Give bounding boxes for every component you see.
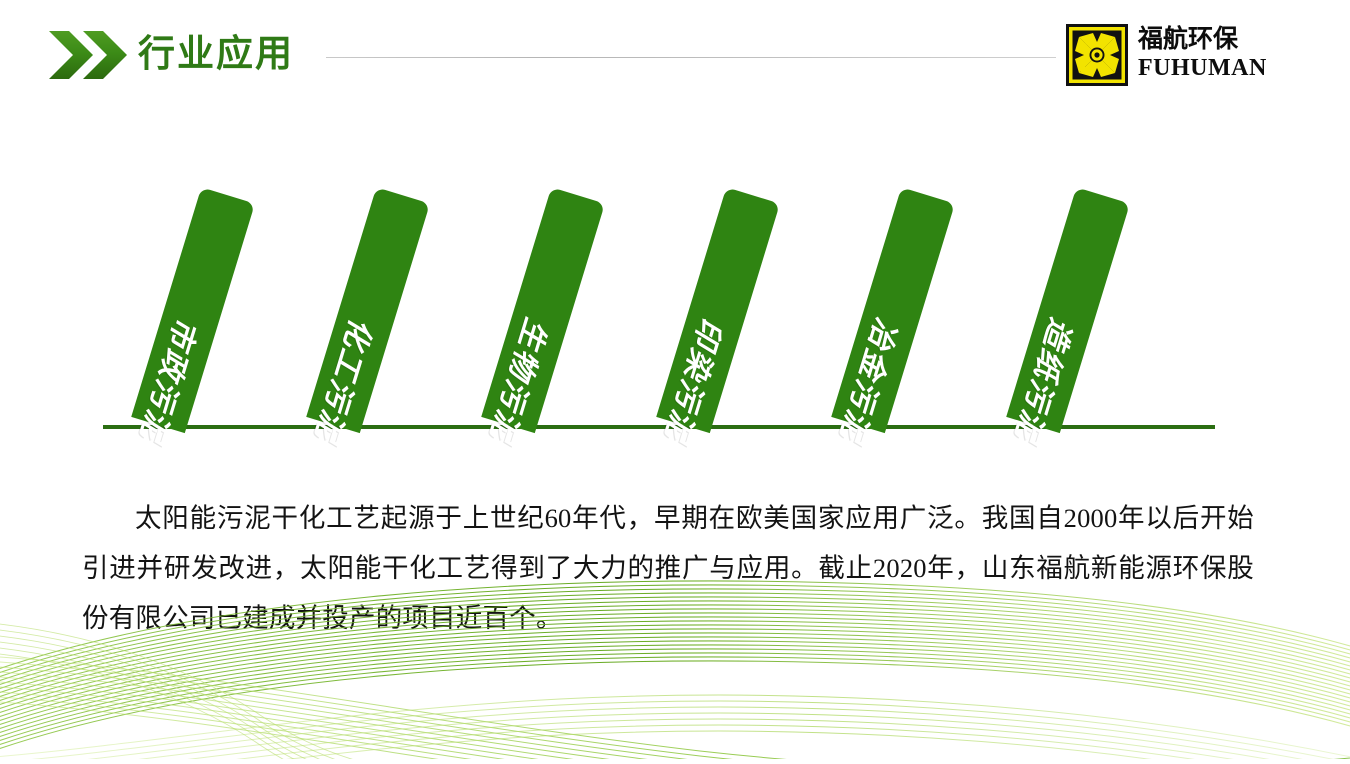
bar-item-2: 生物污泥 xyxy=(481,187,605,433)
slide-header: 行业应用 xyxy=(0,0,1350,110)
bar-item-3: 印染污泥 xyxy=(656,187,780,433)
bar-item-5: 造纸污泥 xyxy=(1006,187,1130,433)
page-title: 行业应用 xyxy=(138,36,294,73)
bar-item-1: 化工污泥 xyxy=(306,187,430,433)
industry-bars-chart: 市政污泥 化工污泥 生物污泥 印染污泥 冶金污泥 造纸污泥 xyxy=(0,150,1350,440)
company-logo: F F F F 福航环保 FUHUMAN xyxy=(1066,24,1270,86)
logo-english-name: FUHUMAN xyxy=(1138,54,1270,82)
header-divider xyxy=(326,57,1056,58)
logo-chinese-name: 福航环保 xyxy=(1138,24,1270,54)
fuhuman-emblem-icon: F F F F xyxy=(1066,24,1128,86)
slide-root: 行业应用 xyxy=(0,0,1350,759)
bar-item-0: 市政污泥 xyxy=(131,187,255,433)
bar-item-4: 冶金污泥 xyxy=(831,187,955,433)
body-paragraph: 太阳能污泥干化工艺起源于上世纪60年代，早期在欧美国家应用广泛。我国自2000年… xyxy=(82,493,1254,643)
double-chevron-right-icon xyxy=(47,29,129,81)
logo-wordmark: 福航环保 FUHUMAN xyxy=(1138,24,1270,86)
